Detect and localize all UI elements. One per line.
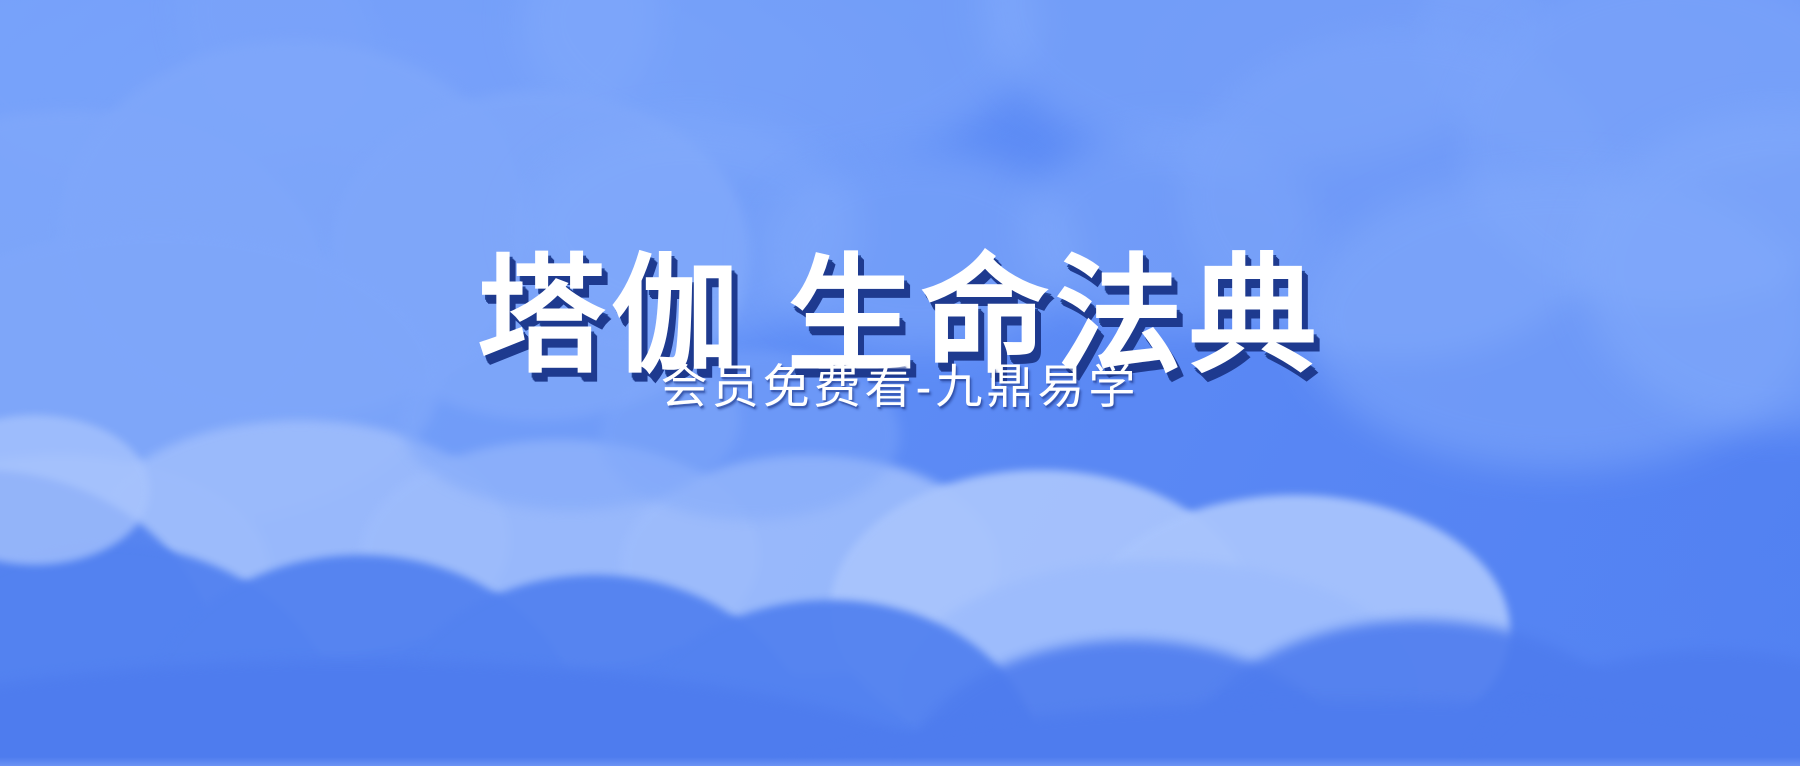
subtitle-container: 会员免费看-九鼎易学 xyxy=(0,358,1800,417)
promo-banner: 塔伽 生命法典 会员免费看-九鼎易学 xyxy=(0,0,1800,766)
banner-subtitle: 会员免费看-九鼎易学 xyxy=(661,358,1140,417)
bottom-light-band xyxy=(0,757,1800,766)
title-container: 塔伽 生命法典 xyxy=(0,162,1800,472)
